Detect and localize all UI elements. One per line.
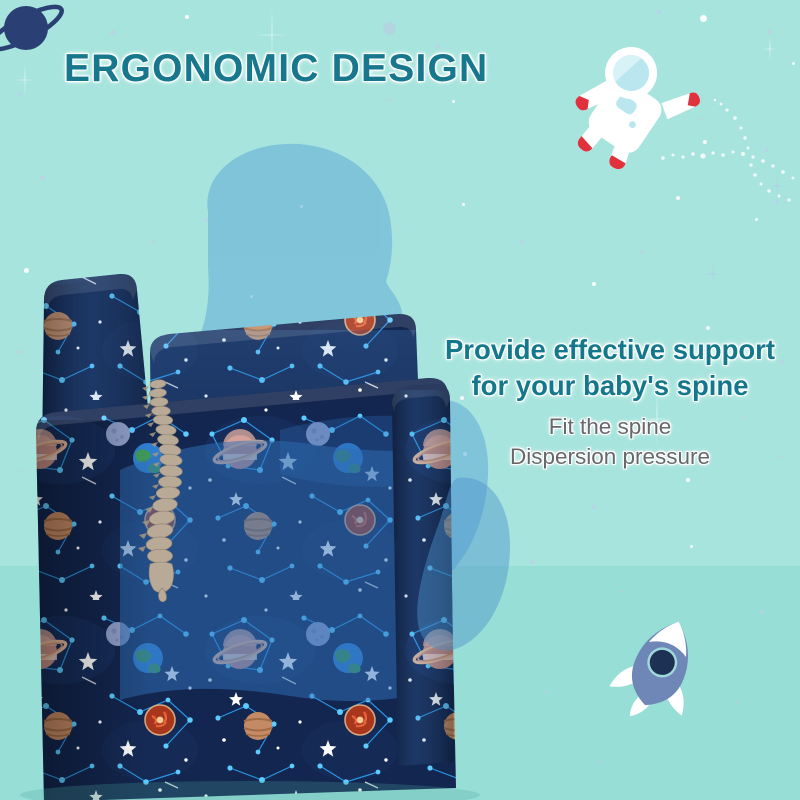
subtext-line-1: Fit the spine — [430, 412, 790, 442]
child-silhouette-arm — [400, 470, 530, 660]
spine-diagram-icon — [118, 378, 218, 598]
ergonomic-design-banner: ERGONOMIC DESIGN — [0, 0, 800, 800]
subtext-line-2: Dispersion pressure — [430, 442, 790, 472]
rocket-icon — [608, 612, 712, 724]
headline-text: Provide effective support for your baby'… — [430, 332, 790, 404]
subtext-block: Fit the spine Dispersion pressure — [430, 412, 790, 471]
